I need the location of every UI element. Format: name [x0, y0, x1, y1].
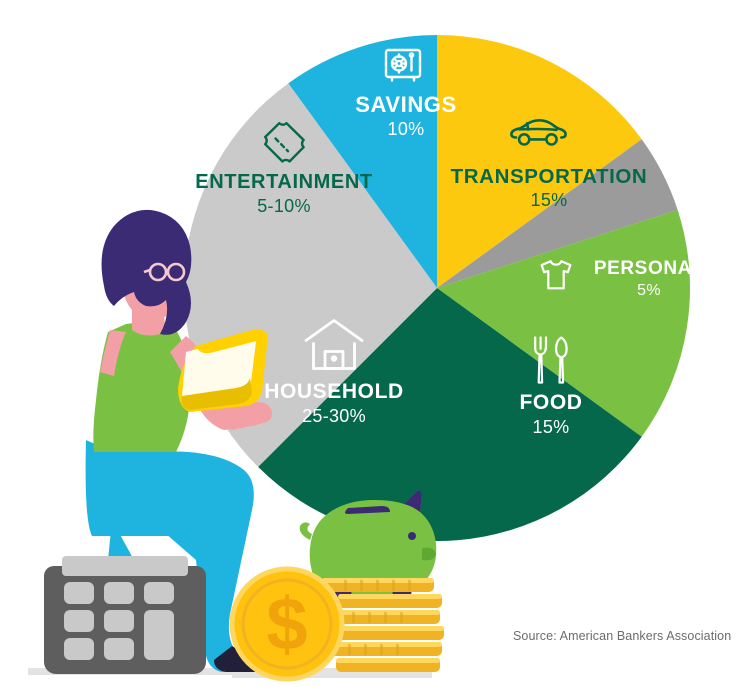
dollar-coin: $: [232, 569, 342, 679]
dollar-symbol: $: [266, 583, 307, 666]
calculator: [44, 556, 206, 674]
illustration-group: $: [0, 0, 750, 700]
infographic-canvas: SAVINGS 10% TRANSPORTATION 15% PERSONAL …: [0, 0, 750, 700]
source-attribution: Source: American Bankers Association: [513, 629, 731, 643]
